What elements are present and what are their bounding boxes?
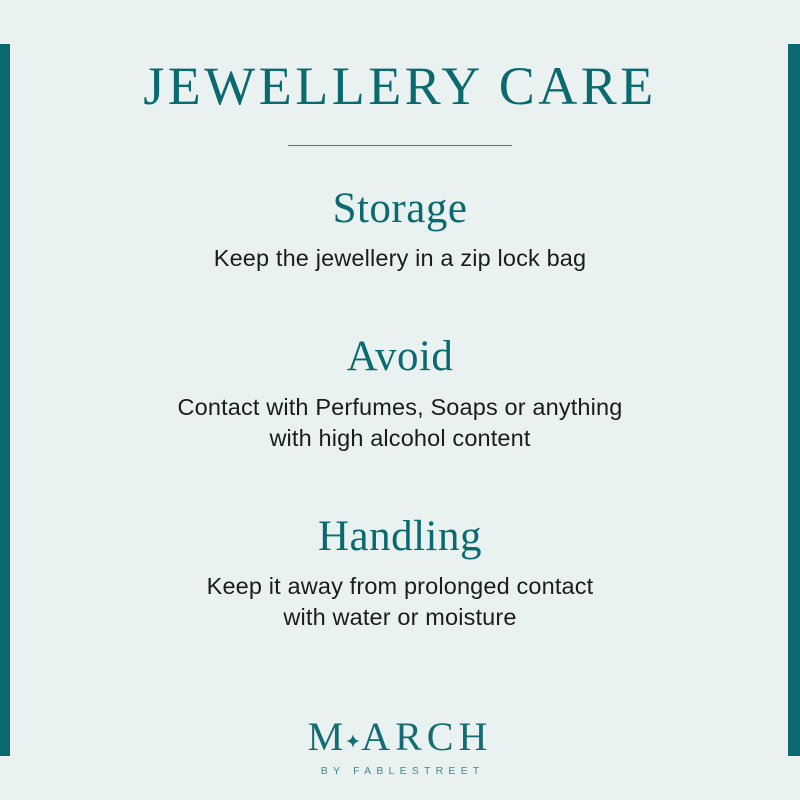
poster-content: JEWELLERY CARE Storage Keep the jeweller… xyxy=(0,0,800,800)
care-body-line: Contact with Perfumes, Soaps or anything xyxy=(80,392,720,423)
care-heading-handling: Handling xyxy=(0,512,800,561)
care-section-avoid: Avoid Contact with Perfumes, Soaps or an… xyxy=(0,332,800,453)
care-body-avoid: Contact with Perfumes, Soaps or anything… xyxy=(80,392,720,454)
title-divider xyxy=(288,145,512,146)
brand-wordmark-part-2: ARCH xyxy=(361,717,492,757)
care-body-line: with high alcohol content xyxy=(80,423,720,454)
care-sections: Storage Keep the jewellery in a zip lock… xyxy=(0,184,800,633)
title-block: JEWELLERY CARE xyxy=(0,58,800,146)
care-body-line: with water or moisture xyxy=(80,602,720,633)
sparkle-icon xyxy=(346,734,360,748)
care-body-line: Keep the jewellery in a zip lock bag xyxy=(80,243,720,274)
care-section-handling: Handling Keep it away from prolonged con… xyxy=(0,512,800,633)
brand-wordmark: M ARCH xyxy=(308,717,493,757)
page-title: JEWELLERY CARE xyxy=(0,58,800,115)
jewellery-care-poster: JEWELLERY CARE Storage Keep the jeweller… xyxy=(0,0,800,800)
care-heading-storage: Storage xyxy=(0,184,800,233)
care-body-line: Keep it away from prolonged contact xyxy=(80,571,720,602)
brand-wordmark-part-1: M xyxy=(308,717,349,757)
brand-tagline: BY FABLESTREET xyxy=(0,766,800,777)
care-heading-avoid: Avoid xyxy=(0,332,800,381)
care-body-storage: Keep the jewellery in a zip lock bag xyxy=(80,243,720,274)
care-section-storage: Storage Keep the jewellery in a zip lock… xyxy=(0,184,800,274)
brand-logo-lockup: M ARCH BY FABLESTREET xyxy=(0,717,800,777)
care-body-handling: Keep it away from prolonged contact with… xyxy=(80,571,720,633)
